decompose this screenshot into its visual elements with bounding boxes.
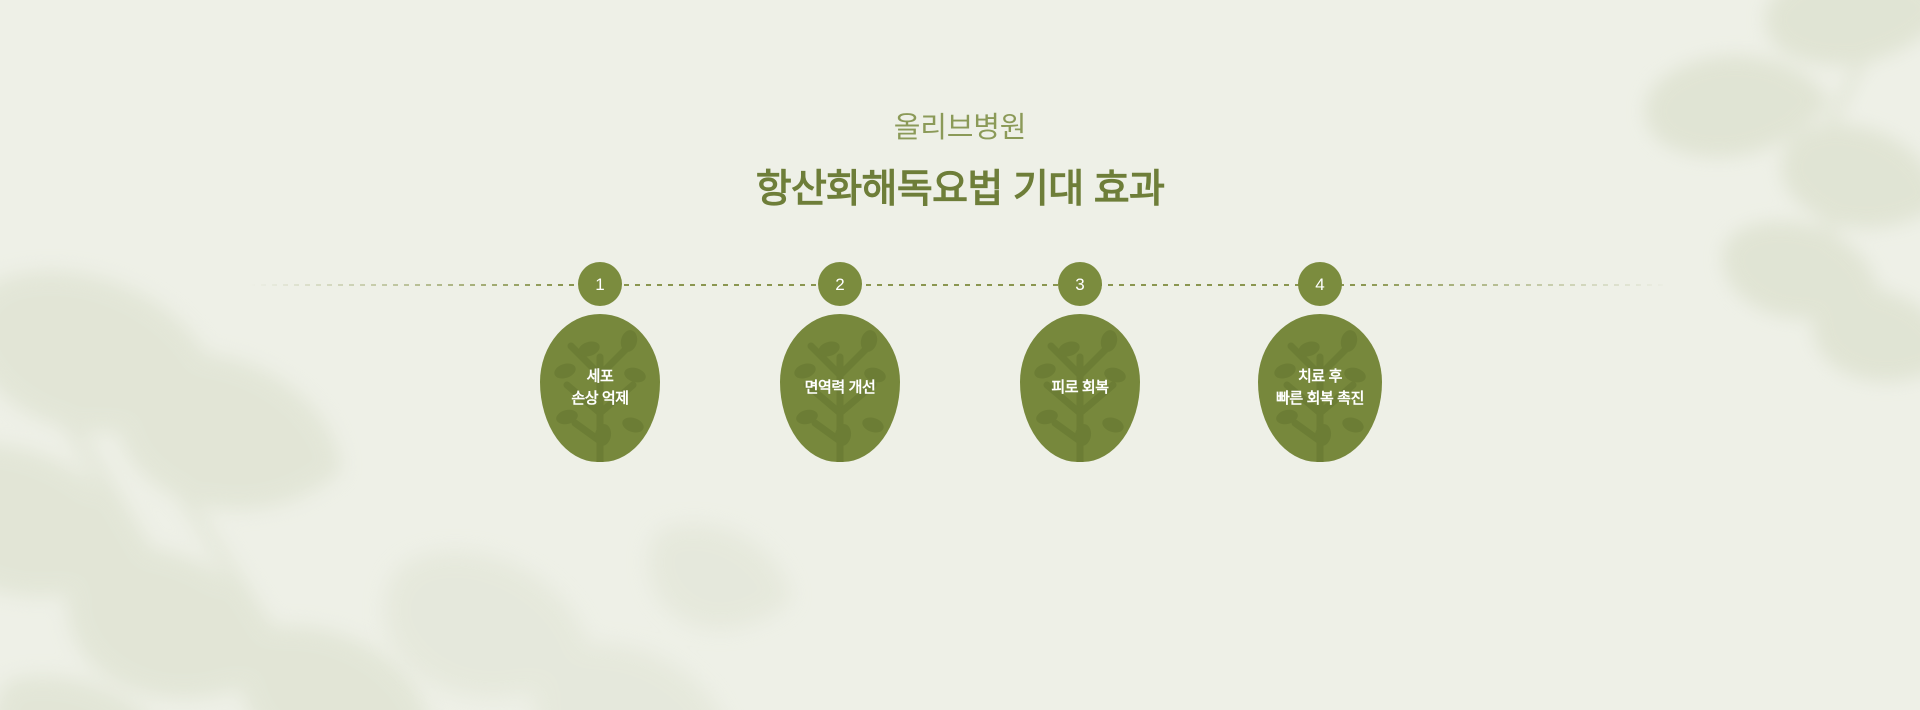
step-number-badge: 2 xyxy=(818,262,862,306)
step-number-badge: 3 xyxy=(1058,262,1102,306)
step-item-3[interactable]: 3 xyxy=(1000,262,1160,462)
leaf-shadow-bottom-center-icon xyxy=(330,470,850,710)
step-bubble[interactable]: 피로 회복 xyxy=(1020,314,1140,462)
page-header: 올리브병원 항산화해독요법 기대 효과 xyxy=(0,0,1920,214)
page-title: 항산화해독요법 기대 효과 xyxy=(0,166,1920,215)
step-number-badge: 1 xyxy=(578,262,622,306)
steps-row: 1 xyxy=(0,262,1920,462)
step-item-4[interactable]: 4 xyxy=(1240,262,1400,462)
infographic-canvas: 올리브병원 항산화해독요법 기대 효과 1 xyxy=(0,0,1920,710)
step-label: 치료 후 빠른 회복 촉진 xyxy=(1272,366,1368,410)
step-label: 세포 손상 억제 xyxy=(567,366,632,410)
step-label: 피로 회복 xyxy=(1047,377,1112,399)
step-label: 면역력 개선 xyxy=(801,377,880,399)
step-number-badge: 4 xyxy=(1298,262,1342,306)
step-item-2[interactable]: 2 xyxy=(760,262,920,462)
step-item-1[interactable]: 1 xyxy=(520,262,680,462)
step-bubble[interactable]: 면역력 개선 xyxy=(780,314,900,462)
brand-name: 올리브병원 xyxy=(0,110,1920,148)
step-bubble[interactable]: 세포 손상 억제 xyxy=(540,314,660,462)
step-bubble[interactable]: 치료 후 빠른 회복 촉진 xyxy=(1258,314,1382,462)
